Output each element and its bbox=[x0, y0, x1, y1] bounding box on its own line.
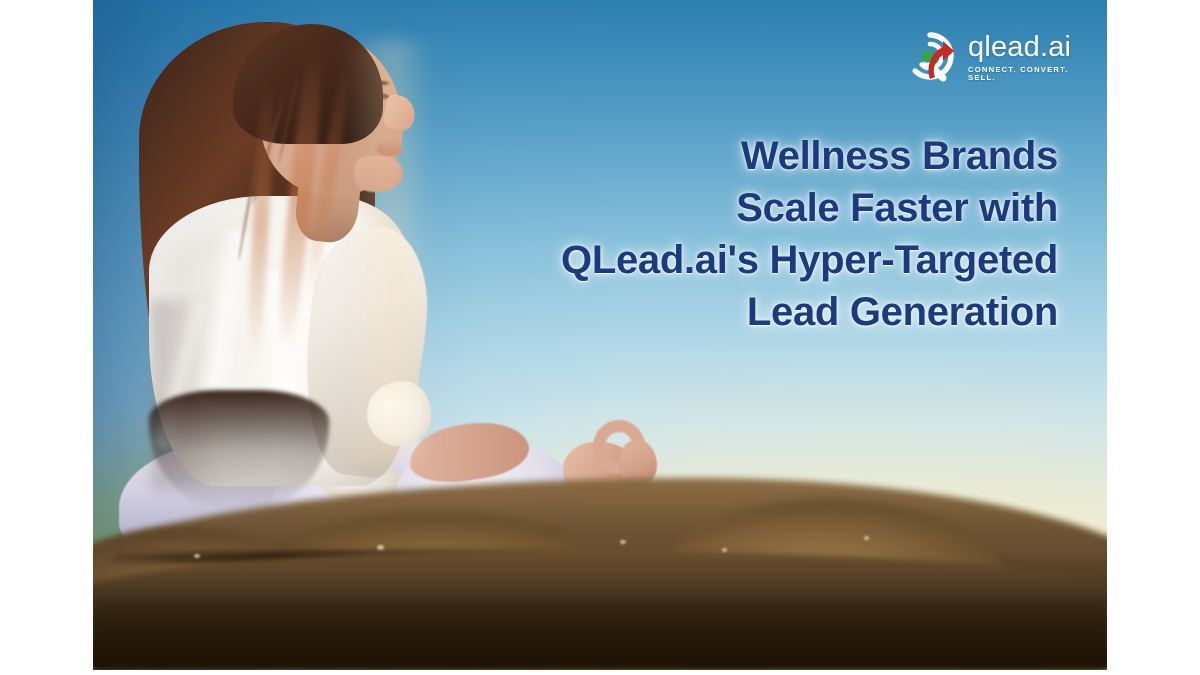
sand-speck bbox=[377, 545, 384, 550]
dune-dark-base bbox=[93, 598, 1107, 670]
hero-banner-image: qlead.ai CONNECT. CONVERT. SELL. Wellnes… bbox=[93, 0, 1107, 670]
logo-wordmark: qlead.ai CONNECT. CONVERT. SELL. bbox=[968, 33, 1077, 81]
qlead-logo[interactable]: qlead.ai CONNECT. CONVERT. SELL. bbox=[899, 26, 1077, 88]
logo-name: qlead.ai bbox=[968, 33, 1077, 62]
sun-rim-light bbox=[343, 40, 433, 460]
headline-line-3: QLead.ai's Hyper-Targeted bbox=[483, 234, 1058, 286]
headline-line-1: Wellness Brands bbox=[483, 130, 1058, 182]
headline-line-2: Scale Faster with bbox=[483, 182, 1058, 234]
sand-speck bbox=[864, 536, 869, 540]
sand-dunes-foreground bbox=[93, 470, 1107, 670]
sand-speck bbox=[722, 548, 727, 552]
headline: Wellness Brands Scale Faster with QLead.… bbox=[483, 130, 1058, 338]
headline-line-4: Lead Generation bbox=[483, 286, 1058, 338]
target-bullseye-arrow-icon bbox=[899, 28, 961, 86]
page-canvas: qlead.ai CONNECT. CONVERT. SELL. Wellnes… bbox=[0, 0, 1200, 675]
logo-tagline: CONNECT. CONVERT. SELL. bbox=[968, 66, 1077, 81]
